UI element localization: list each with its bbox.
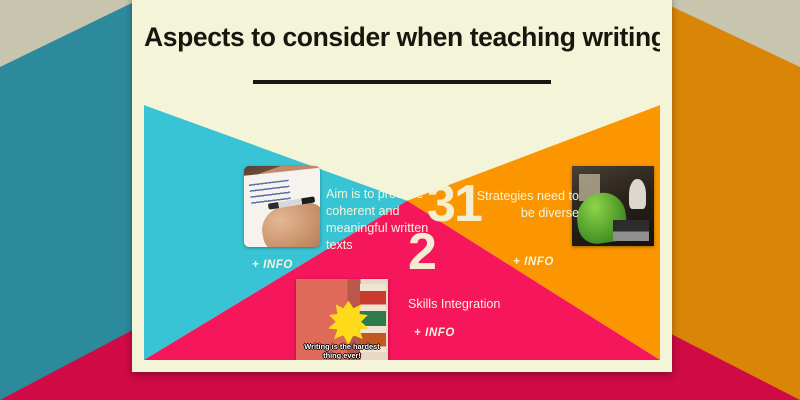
title-divider-rule: [253, 80, 551, 84]
bust-statue-shape: [629, 179, 645, 209]
panel-3-info-link[interactable]: + INFO: [513, 256, 554, 268]
photo-caption: Writing is the hardest thing ever!: [296, 342, 388, 360]
panel-2-text: Skills Integration: [408, 296, 558, 313]
panel-1-info-link[interactable]: + INFO: [252, 259, 293, 271]
card-inner-surface: Aspects to consider when teaching writin…: [144, 6, 660, 360]
panel-3-number: 3: [427, 178, 456, 230]
panel-2-info-link[interactable]: + INFO: [414, 327, 455, 339]
typewriter-shape: [613, 220, 649, 241]
panel-3-text: Strategies need to be diverse: [475, 188, 579, 222]
lisa-simpson-photo: Writing is the hardest thing ever!: [296, 279, 388, 360]
infographic-canvas: Aspects to consider when teaching writin…: [0, 0, 800, 400]
kermit-typewriter-photo: [572, 166, 654, 246]
hand-writing-photo: [244, 166, 320, 247]
infographic-card: Aspects to consider when teaching writin…: [132, 0, 672, 372]
right-decorative-band: [658, 0, 800, 400]
page-title: Aspects to consider when teaching writin…: [144, 22, 660, 53]
panel-2-number: 2: [408, 226, 437, 278]
lisa-face-shape: [338, 316, 360, 338]
left-decorative-band: [0, 0, 138, 400]
